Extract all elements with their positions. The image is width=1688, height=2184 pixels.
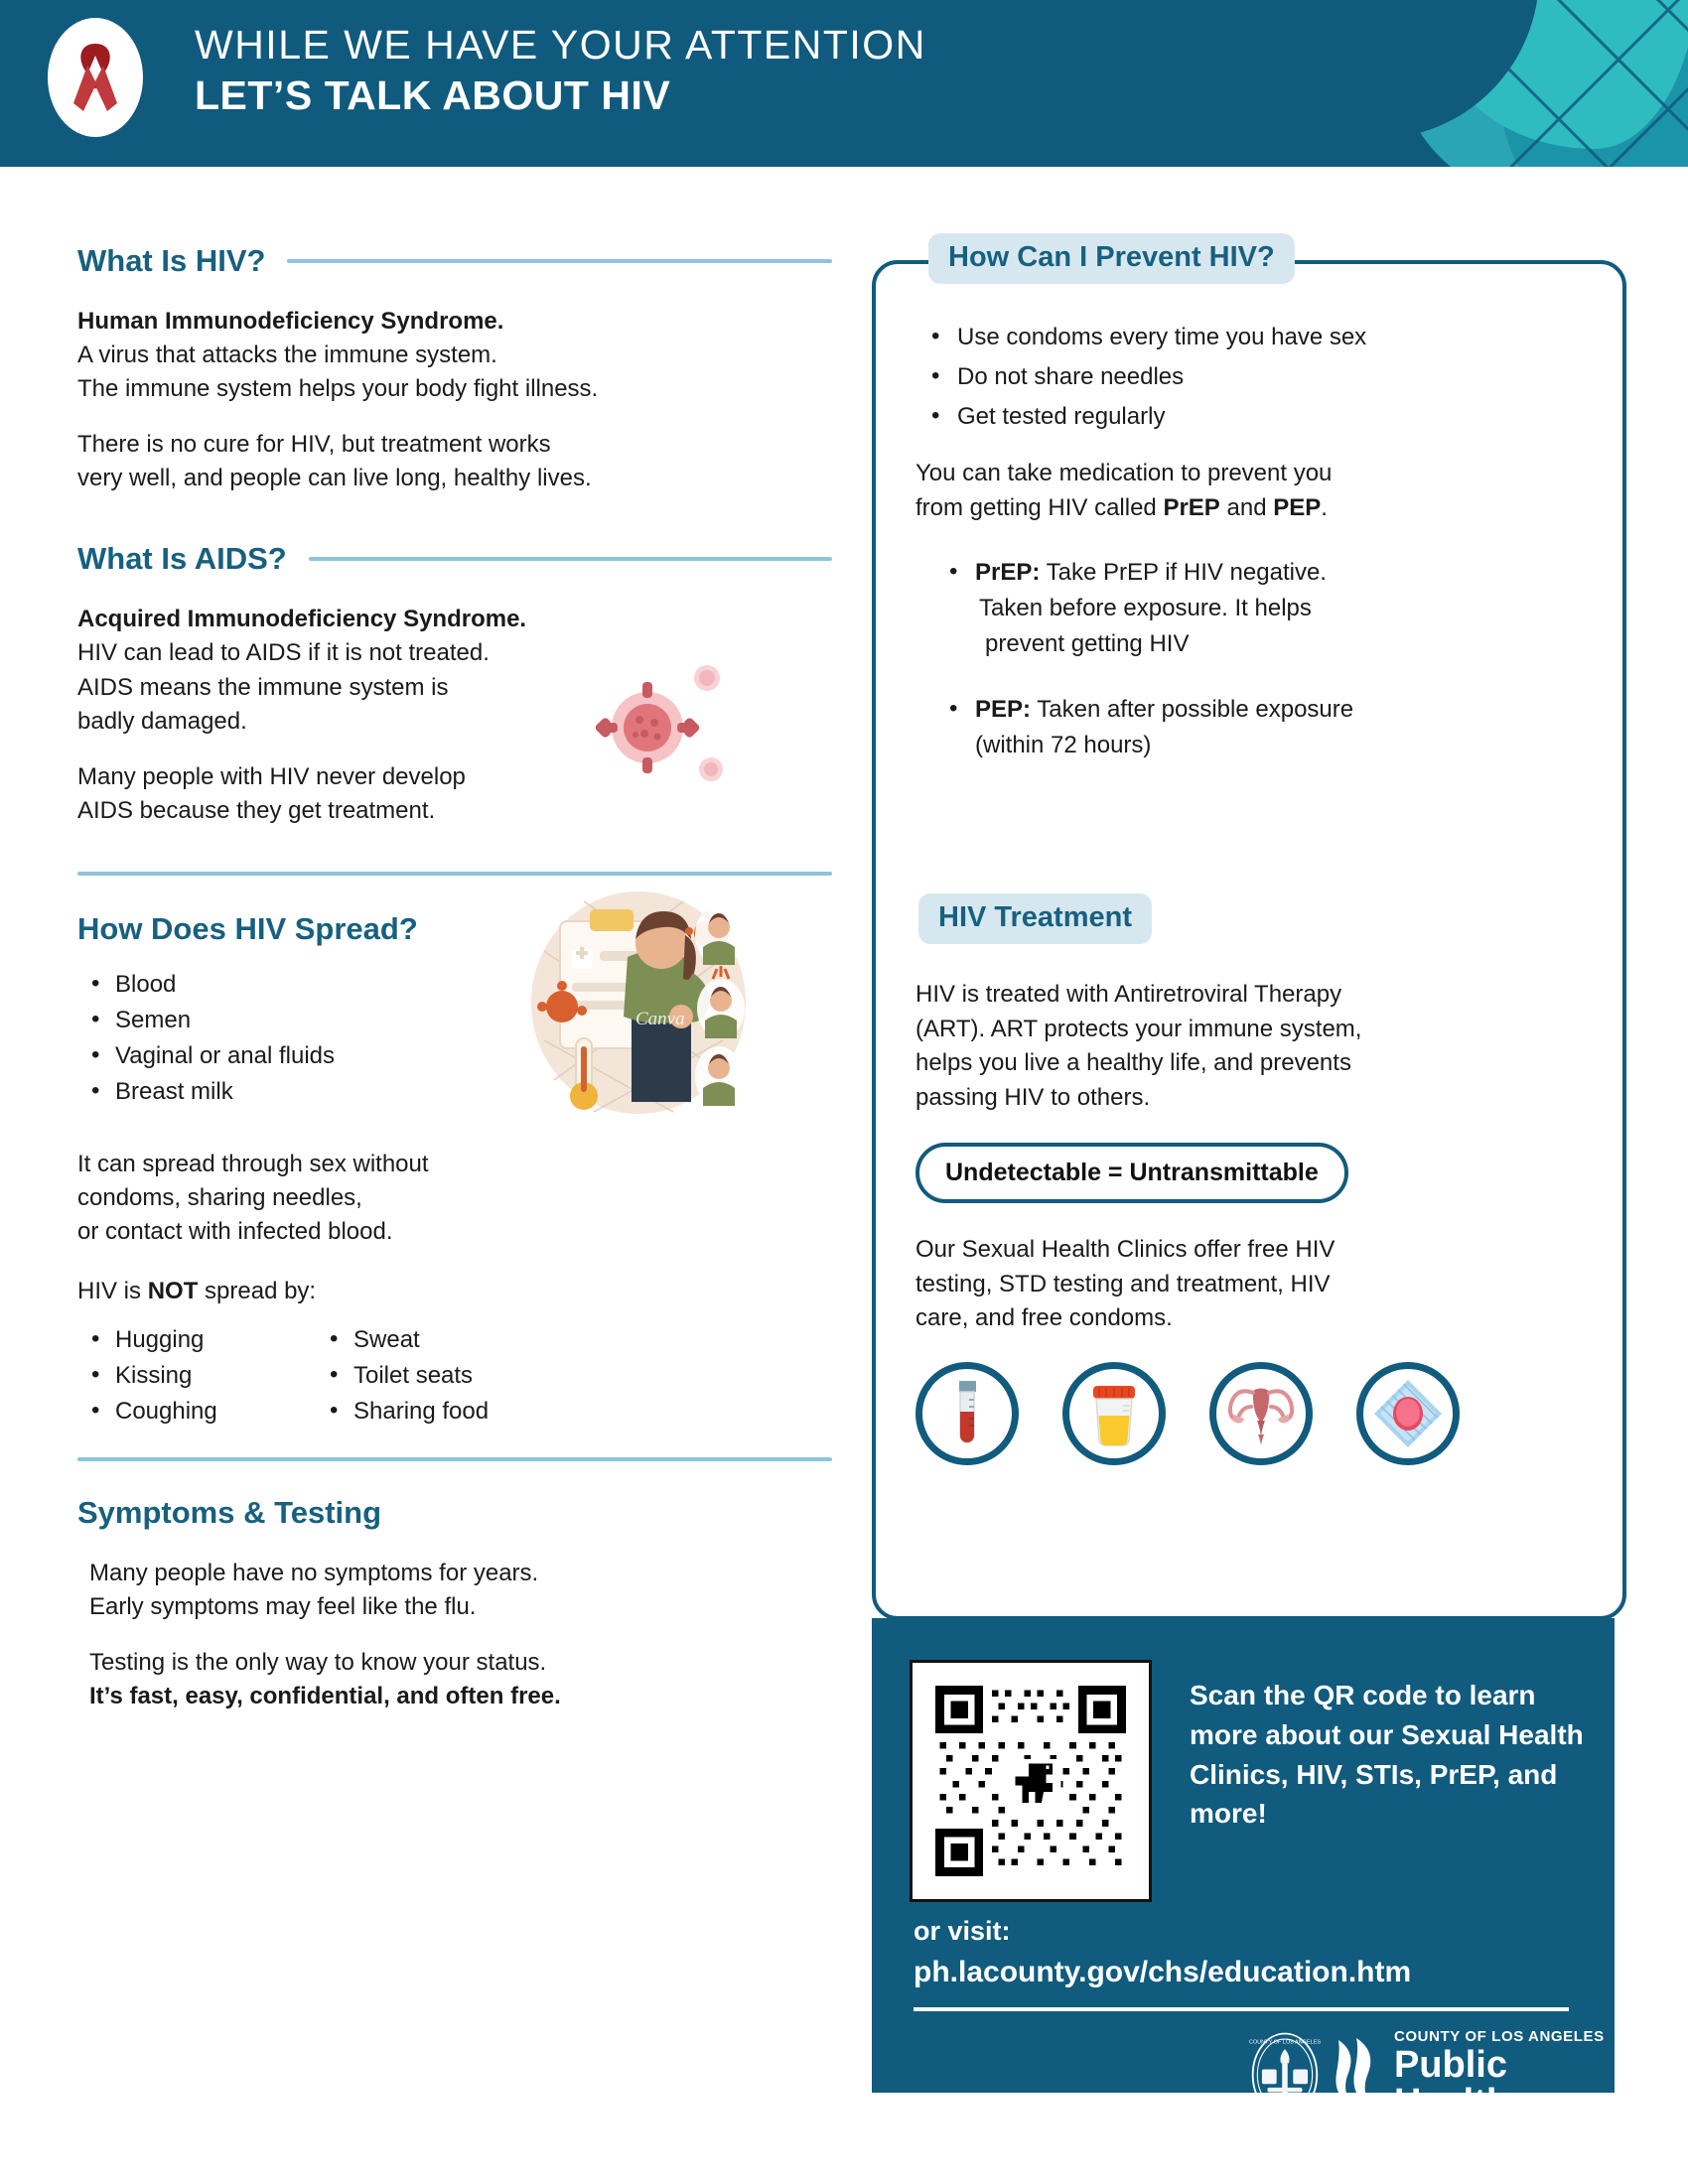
hiv-treatment-note-line1: There is no cure for HIV, but treatment … (77, 428, 832, 462)
list-item: Use condoms every time you have sex (915, 320, 1601, 355)
aids-definition-bold: Acquired Immunodeficiency Syndrome. (77, 603, 832, 636)
list-item: Get tested regularly (915, 399, 1601, 435)
aids-ribbon-icon (68, 38, 123, 117)
heading-rule (287, 259, 832, 263)
qr-code[interactable] (910, 1660, 1152, 1902)
spread-note-line3: or contact with infected blood. (77, 1215, 832, 1249)
spread-note-line2: condoms, sharing needles, (77, 1181, 832, 1215)
prep-line1: Take PrEP if HIV negative. (1040, 559, 1327, 586)
not-spread-bold: NOT (148, 1278, 199, 1304)
la-county-seal-icon: COUNTY OF LOS ANGELES CALIFORNIA (1249, 2027, 1321, 2122)
hiv-definition-bold: Human Immunodeficiency Syndrome. (77, 305, 832, 339)
header-title-line1: WHILE WE HAVE YOUR ATTENTION (195, 22, 926, 68)
treatment-line4: passing HIV to others. (915, 1081, 1601, 1116)
clinics-line2: testing, STD testing and treatment, HIV (915, 1268, 1571, 1302)
urine-sample-cup-icon (1062, 1362, 1166, 1465)
services-icon-row (915, 1362, 1601, 1465)
prep-keyword: PrEP (1163, 494, 1219, 521)
section-what-is-aids: What Is AIDS? Acquired Immunodeficiency … (77, 541, 832, 827)
list-item: Sweat (316, 1322, 489, 1358)
public-health-mark-icon (1335, 2034, 1380, 2112)
aids-ribbon-badge (48, 18, 143, 137)
list-item: Sharing food (316, 1394, 489, 1430)
footer-divider (914, 2007, 1569, 2011)
section-heading-what-is-aids: What Is AIDS? (77, 541, 287, 577)
symptoms-line1: Many people have no symptoms for years. (89, 1557, 832, 1590)
or-visit-label: or visit: (914, 1916, 1011, 1947)
badge-hiv-treatment: HIV Treatment (918, 893, 1152, 944)
clinics-line1: Our Sexual Health Clinics offer free HIV (915, 1233, 1571, 1268)
svg-text:CALIFORNIA: CALIFORNIA (1268, 2108, 1301, 2114)
prevention-list: Use condoms every time you have sex Do n… (915, 320, 1601, 435)
medication-intro-line1: You can take medication to prevent you (915, 457, 1601, 491)
medication-intro: You can take medication to prevent you f… (915, 457, 1601, 525)
section-heading-what-is-hiv: What Is HIV? (77, 243, 265, 279)
treatment-line2: (ART). ART protects your immune system, (915, 1013, 1601, 1047)
treatment-line3: helps you live a healthy life, and preve… (915, 1046, 1601, 1081)
header-title-group: WHILE WE HAVE YOUR ATTENTION LET’S TALK … (195, 22, 926, 119)
not-spread-label: HIV is NOT spread by: (77, 1275, 832, 1308)
not-spread-suffix: spread by: (198, 1278, 316, 1304)
prevention-content: Use condoms every time you have sex Do n… (915, 320, 1601, 767)
blood-test-tube-icon (915, 1362, 1019, 1465)
pep-label: PEP: (975, 696, 1031, 723)
aids-note-line2: AIDS because they get treatment. (77, 794, 832, 828)
treatment-line1: HIV is treated with Antiretroviral Thera… (915, 978, 1601, 1013)
list-item: Do not share needles (915, 359, 1601, 395)
infographic-page: WHILE WE HAVE YOUR ATTENTION LET’S TALK … (0, 0, 1688, 2184)
pep-line1: Taken after possible exposure (1031, 696, 1353, 723)
uterus-icon (1209, 1362, 1313, 1465)
condom-icon (1356, 1362, 1460, 1465)
section-heading-symptoms: Symptoms & Testing (77, 1495, 832, 1531)
prep-line2: Taken before exposure. It helps (975, 591, 1601, 626)
header-title-line2: LET’S TALK ABOUT HIV (195, 72, 926, 119)
not-spread-prefix: HIV is (77, 1278, 148, 1304)
treatment-paragraph: HIV is treated with Antiretroviral Thera… (915, 978, 1601, 1115)
prep-pep-list: PrEP: Take PrEP if HIV negative. Taken b… (915, 555, 1601, 763)
qr-footer-panel: Scan the QR code to learn more about our… (872, 1618, 1615, 2093)
prep-line3: prevent getting HIV (975, 626, 1601, 662)
la-county-public-health-logo: COUNTY OF LOS ANGELES CALIFORNIA COUNTY … (1249, 2027, 1615, 2122)
testing-line1: Testing is the only way to know your sta… (89, 1646, 832, 1680)
hiv-definition-line2: A virus that attacks the immune system. (77, 339, 832, 372)
list-item-prep: PrEP: Take PrEP if HIV negative. Taken b… (933, 555, 1601, 662)
intro-text-c: and (1220, 494, 1273, 521)
decorative-blobs (1271, 0, 1688, 167)
intro-text-e: . (1321, 494, 1328, 521)
section-divider (77, 872, 832, 876)
not-spread-lists: Hugging Kissing Coughing Sweat Toilet se… (77, 1316, 832, 1430)
section-what-is-hiv: What Is HIV? Human Immunodeficiency Synd… (77, 243, 832, 495)
symptoms-line2: Early symptoms may feel like the flu. (89, 1590, 832, 1624)
medication-intro-line2: from getting HIV called PrEP and PEP. (915, 491, 1601, 526)
virus-illustration-icon (596, 660, 725, 789)
not-spread-list-col2: Sweat Toilet seats Sharing food (316, 1322, 489, 1430)
list-item: Kissing (77, 1358, 286, 1394)
website-url[interactable]: ph.lacounty.gov/chs/education.htm (914, 1956, 1411, 1989)
healthcare-person-illustration: Canva (524, 891, 753, 1120)
list-item: Hugging (77, 1322, 286, 1358)
clinics-line3: care, and free condoms. (915, 1301, 1571, 1336)
undetectable-untransmittable-pill: Undetectable = Untransmittable (915, 1143, 1348, 1203)
section-how-does-hiv-spread: How Does HIV Spread? Blood Semen Vaginal… (77, 911, 832, 1430)
qr-scan-instruction: Scan the QR code to learn more about our… (1190, 1676, 1587, 1834)
list-item-pep: PEP: Taken after possible exposure (with… (933, 692, 1601, 763)
not-spread-list-col1: Hugging Kissing Coughing (77, 1322, 286, 1430)
pep-keyword: PEP (1273, 494, 1321, 521)
hiv-treatment-note-line2: very well, and people can live long, hea… (77, 462, 832, 495)
intro-text-a: from getting HIV called (915, 494, 1163, 521)
svg-text:COUNTY OF LOS ANGELES: COUNTY OF LOS ANGELES (1249, 2040, 1321, 2046)
section-symptoms-testing: Symptoms & Testing Many people have no s… (77, 1495, 832, 1713)
logo-public-health-label: Public Health (1394, 2046, 1615, 2121)
testing-line2-bold: It’s fast, easy, confidential, and often… (89, 1680, 832, 1713)
left-column: What Is HIV? Human Immunodeficiency Synd… (77, 243, 832, 1713)
spread-note-line1: It can spread through sex without (77, 1148, 832, 1181)
section-divider (77, 1457, 832, 1461)
clinics-paragraph: Our Sexual Health Clinics offer free HIV… (915, 1233, 1571, 1336)
prep-label: PrEP: (975, 559, 1040, 586)
svg-text:Canva: Canva (635, 1009, 685, 1029)
heading-rule (309, 557, 832, 561)
qr-code-image (922, 1673, 1139, 1889)
pep-line2: (within 72 hours) (975, 728, 1601, 763)
page-header: WHILE WE HAVE YOUR ATTENTION LET’S TALK … (0, 0, 1688, 167)
badge-how-can-i-prevent-hiv: How Can I Prevent HIV? (928, 233, 1295, 284)
treatment-content: HIV is treated with Antiretroviral Thera… (915, 978, 1601, 1465)
logo-county-label: COUNTY OF LOS ANGELES (1394, 2029, 1615, 2044)
list-item: Toilet seats (316, 1358, 489, 1394)
list-item: Coughing (77, 1394, 286, 1430)
hiv-definition-line3: The immune system helps your body fight … (77, 372, 832, 406)
